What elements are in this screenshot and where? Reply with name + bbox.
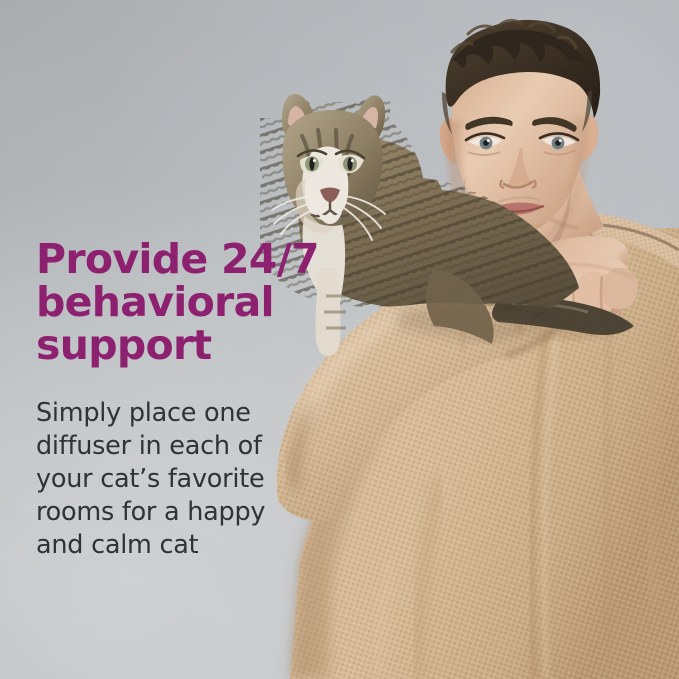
copy-block: Provide 24/7 behavioral support Simply p… <box>36 238 332 562</box>
page-title: Provide 24/7 behavioral support <box>36 238 332 367</box>
advertisement-card: Provide 24/7 behavioral support Simply p… <box>0 0 679 679</box>
supporting-text: Simply place one diffuser in each of you… <box>36 367 332 562</box>
